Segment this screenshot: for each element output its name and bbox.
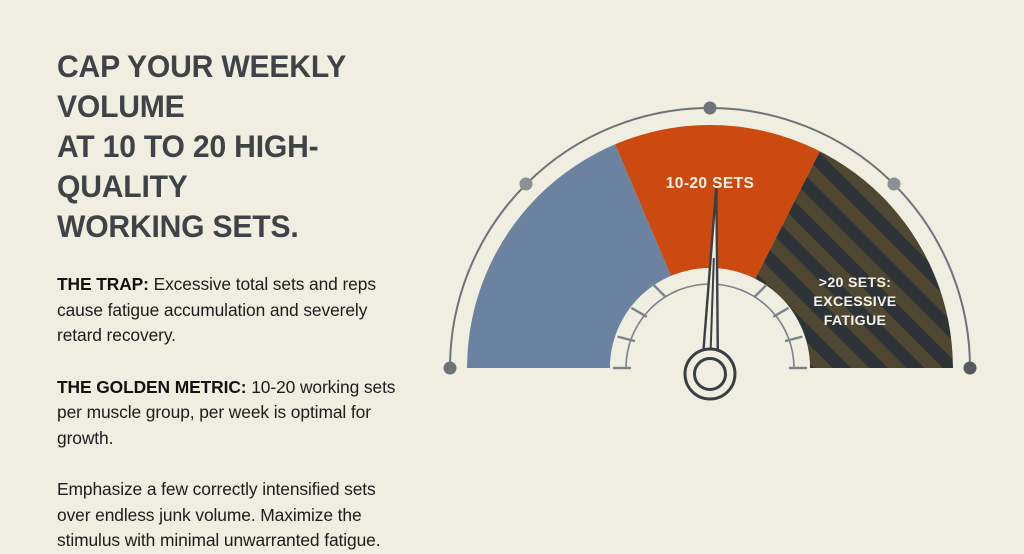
- gauge-label-excessive-line-2: EXCESSIVE: [813, 294, 896, 310]
- slide-root: CAP YOUR WEEKLY VOLUME AT 10 TO 20 HIGH-…: [0, 0, 1024, 522]
- outer-arc-dot: [888, 178, 901, 191]
- gauge-hub: [685, 349, 735, 399]
- gauge-svg: 10-20 SETS >20 SETS: EXCESSIVE FATIGUE: [418, 82, 1018, 402]
- text-column: CAP YOUR WEEKLY VOLUME AT 10 TO 20 HIGH-…: [57, 46, 457, 554]
- outer-arc-dot: [964, 362, 977, 375]
- outer-arc-dot: [444, 362, 457, 375]
- outer-arc-dot: [704, 102, 717, 115]
- gauge-label-excessive-line-1: >20 SETS:: [819, 275, 892, 291]
- outer-arc-dot: [520, 178, 533, 191]
- volume-gauge-chart: 10-20 SETS >20 SETS: EXCESSIVE FATIGUE: [418, 82, 1018, 402]
- page-title: CAP YOUR WEEKLY VOLUME AT 10 TO 20 HIGH-…: [57, 46, 439, 246]
- gauge-label-optimal-volume: 10-20 SETS: [666, 175, 754, 192]
- paragraph-text: Emphasize a few correctly intensified se…: [57, 479, 380, 550]
- paragraph-lead-label: THE TRAP:: [57, 274, 149, 294]
- hub-inner-ring: [695, 359, 726, 390]
- paragraph-the-golden-metric: THE GOLDEN METRIC: 10-20 working sets pe…: [57, 375, 409, 452]
- gauge-label-excessive-volume: >20 SETS: EXCESSIVE FATIGUE: [813, 275, 896, 329]
- paragraph-emphasis: Emphasize a few correctly intensified se…: [57, 477, 409, 554]
- paragraph-the-trap: THE TRAP: Excessive total sets and reps …: [57, 272, 409, 349]
- paragraph-lead-label: THE GOLDEN METRIC:: [57, 377, 247, 397]
- gauge-label-excessive-line-3: FATIGUE: [824, 313, 887, 329]
